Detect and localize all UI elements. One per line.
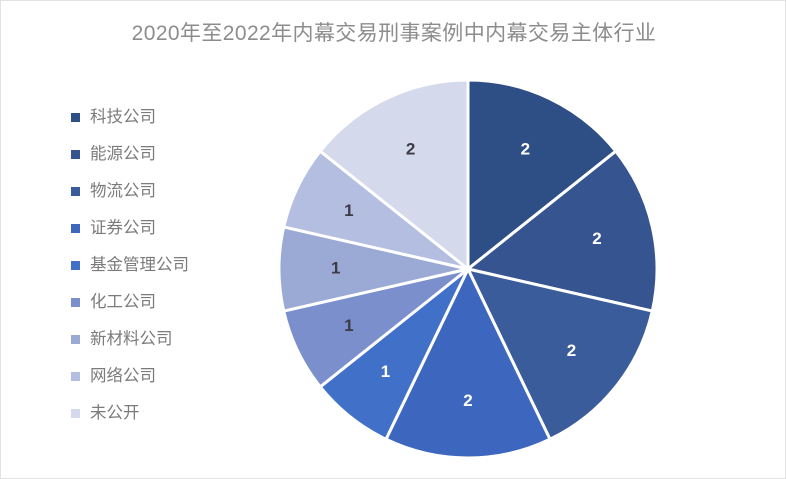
pie-slice-value-label: 1 [344,201,353,220]
legend-item[interactable]: 未公开 [71,395,261,432]
legend-item-label: 证券公司 [90,220,156,237]
legend-item-label: 科技公司 [90,109,156,126]
legend-swatch-icon [71,150,80,159]
legend-item[interactable]: 新材料公司 [71,321,261,358]
pie-slice-value-label: 1 [344,316,353,335]
legend-item[interactable]: 证券公司 [71,210,261,247]
pie-chart-canvas: 2020年至2022年内幕交易刑事案例中内幕交易主体行业 科技公司能源公司物流公… [0,0,786,479]
legend-item[interactable]: 网络公司 [71,358,261,395]
legend-swatch-icon [71,298,80,307]
legend-item-label: 物流公司 [90,183,156,200]
legend-swatch-icon [71,335,80,344]
chart-legend: 科技公司能源公司物流公司证券公司基金管理公司化工公司新材料公司网络公司未公开 [71,99,261,432]
pie-slice-value-label: 2 [463,391,472,410]
pie-slice-value-label: 2 [406,139,415,158]
legend-swatch-icon [71,261,80,270]
legend-item-label: 化工公司 [90,294,156,311]
legend-item[interactable]: 化工公司 [71,284,261,321]
pie-slice-value-label: 2 [521,139,530,158]
legend-item-label: 未公开 [90,405,140,422]
pie-svg: 222211112 [278,79,658,459]
legend-item-label: 网络公司 [90,368,156,385]
pie-slice-value-label: 1 [381,362,390,381]
legend-item-label: 基金管理公司 [90,257,189,274]
pie-slice-value-label: 2 [592,229,601,248]
legend-item[interactable]: 能源公司 [71,136,261,173]
legend-swatch-icon [71,372,80,381]
legend-swatch-icon [71,224,80,233]
legend-item[interactable]: 科技公司 [71,99,261,136]
pie-plot-area: 222211112 [278,79,658,459]
chart-title: 2020年至2022年内幕交易刑事案例中内幕交易主体行业 [1,17,786,47]
legend-item-label: 能源公司 [90,146,156,163]
legend-swatch-icon [71,113,80,122]
legend-item-label: 新材料公司 [90,331,173,348]
pie-slice-value-label: 2 [567,341,576,360]
pie-slice-value-label: 1 [331,258,340,277]
legend-swatch-icon [71,409,80,418]
legend-item[interactable]: 基金管理公司 [71,247,261,284]
legend-swatch-icon [71,187,80,196]
legend-item[interactable]: 物流公司 [71,173,261,210]
